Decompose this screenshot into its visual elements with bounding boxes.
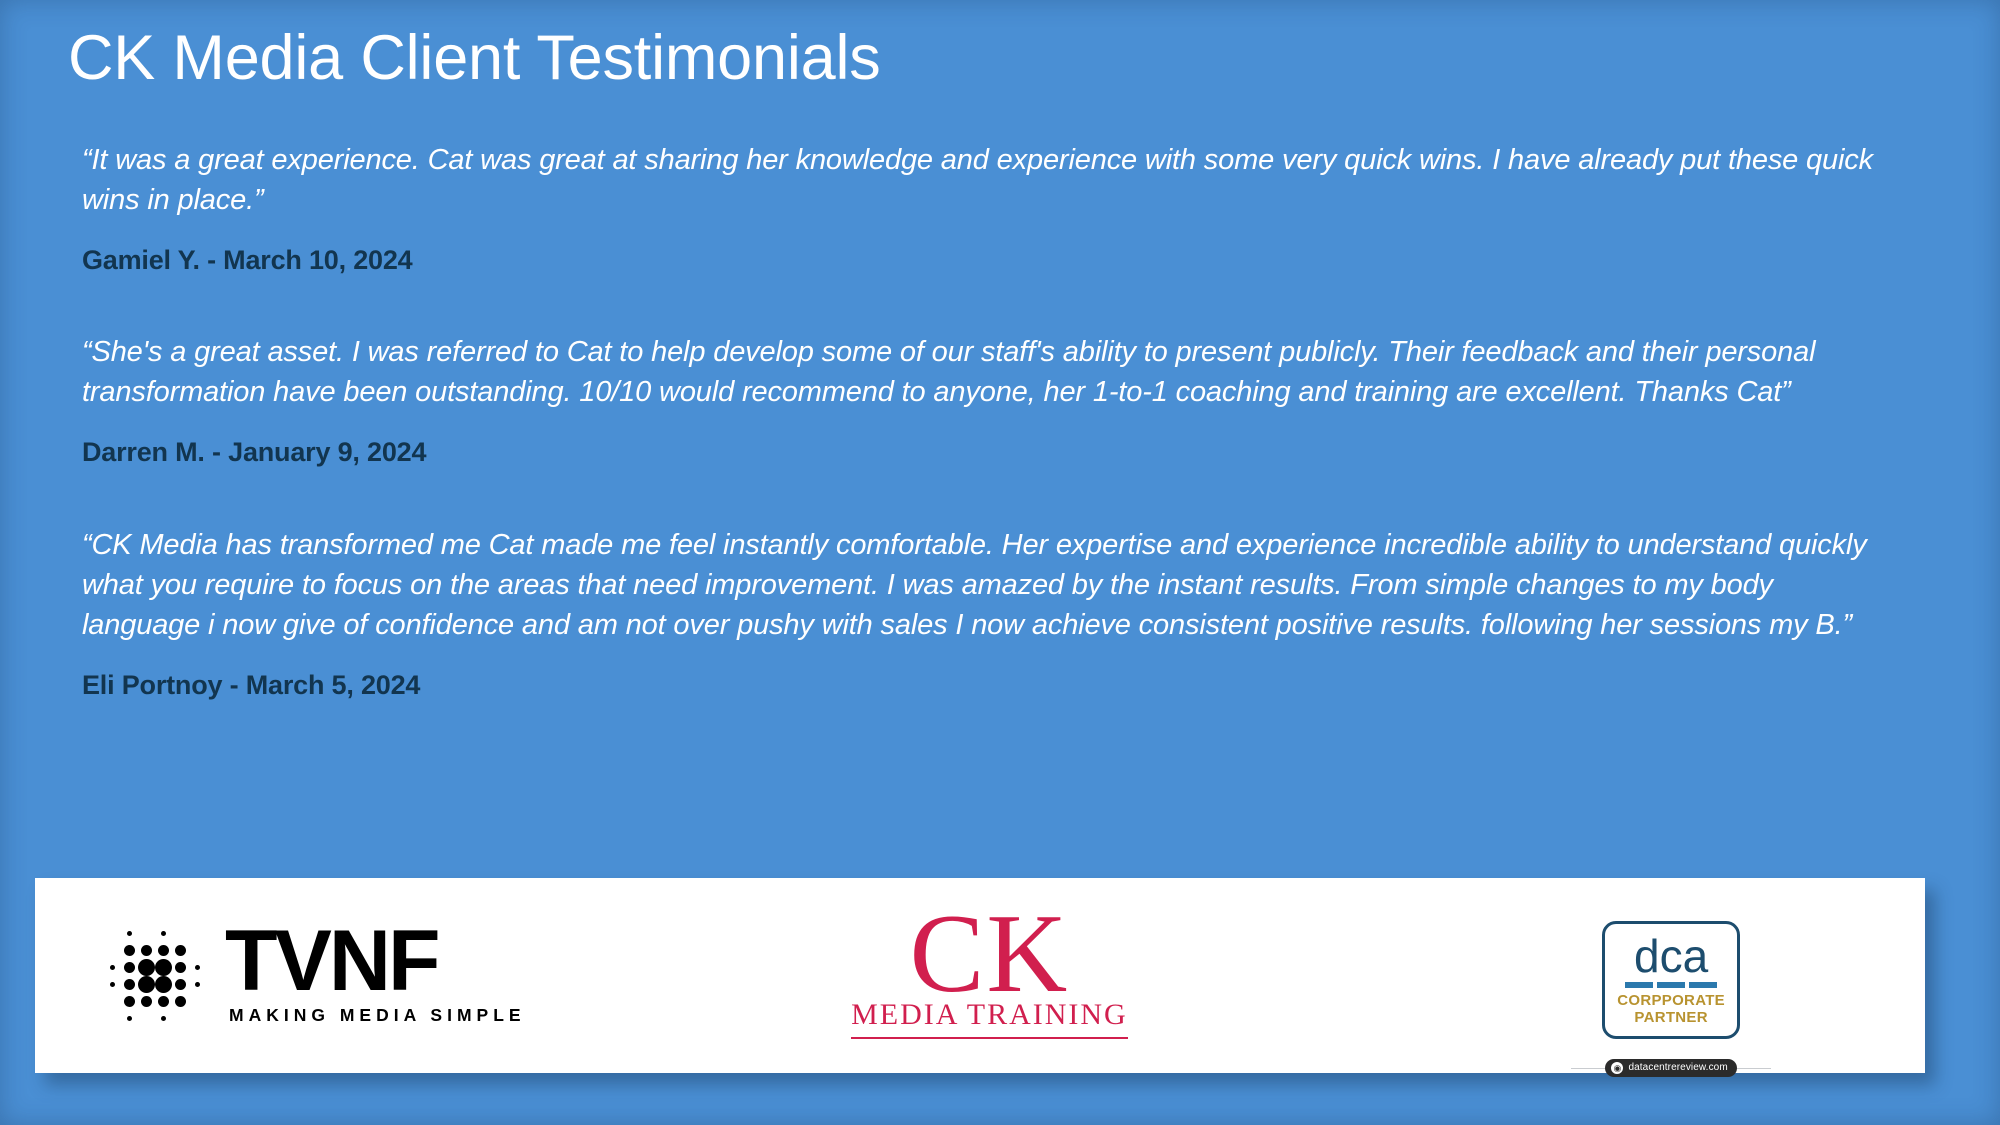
tvnf-wordmark: TVNF xyxy=(225,925,438,999)
dca-line-2: PARTNER xyxy=(1634,1010,1708,1027)
testimonial-item: “CK Media has transformed me Cat made me… xyxy=(82,525,1902,701)
partner-logo-bar: TVNF MAKING MEDIA SIMPLE CK MEDIA TRAINI… xyxy=(35,878,1925,1073)
dca-letters: dca xyxy=(1634,935,1708,977)
logo-tvnf: TVNF MAKING MEDIA SIMPLE xyxy=(35,878,678,1073)
testimonial-quote: “She's a great asset. I was referred to … xyxy=(82,332,1882,412)
ck-monogram: CK xyxy=(851,904,1128,1005)
logo-dca-corporate-partner: dca CORPPORATE PARTNER ◉ datacentrerevie… xyxy=(1301,878,1925,1073)
ck-subtitle: MEDIA TRAINING xyxy=(851,998,1128,1039)
globe-icon: ◉ xyxy=(1611,1062,1623,1074)
testimonial-quote: “It was a great experience. Cat was grea… xyxy=(82,140,1882,220)
datacentrereview-label: datacentrereview.com xyxy=(1628,1062,1727,1073)
testimonial-attribution: Eli Portnoy - March 5, 2024 xyxy=(82,669,1902,701)
testimonial-list: “It was a great experience. Cat was grea… xyxy=(82,140,1902,757)
testimonial-item: “It was a great experience. Cat was grea… xyxy=(82,140,1902,276)
page-title: CK Media Client Testimonials xyxy=(68,25,881,91)
testimonial-quote: “CK Media has transformed me Cat made me… xyxy=(82,525,1882,645)
dca-badge: dca CORPPORATE PARTNER xyxy=(1602,921,1740,1039)
tvnf-dot-matrix-icon xyxy=(99,920,211,1032)
tvnf-tagline: MAKING MEDIA SIMPLE xyxy=(229,1005,526,1026)
dca-line-1: CORPPORATE xyxy=(1617,993,1725,1010)
testimonial-attribution: Gamiel Y. - March 10, 2024 xyxy=(82,244,1902,276)
dca-underline-bars-icon xyxy=(1625,982,1717,988)
slide: CK Media Client Testimonials “It was a g… xyxy=(0,0,2000,1125)
testimonial-attribution: Darren M. - January 9, 2024 xyxy=(82,436,1902,468)
testimonial-item: “She's a great asset. I was referred to … xyxy=(82,332,1902,468)
logo-ck-media-training: CK MEDIA TRAINING xyxy=(678,878,1302,1073)
datacentrereview-attribution: ◉ datacentrereview.com xyxy=(1587,1059,1755,1077)
